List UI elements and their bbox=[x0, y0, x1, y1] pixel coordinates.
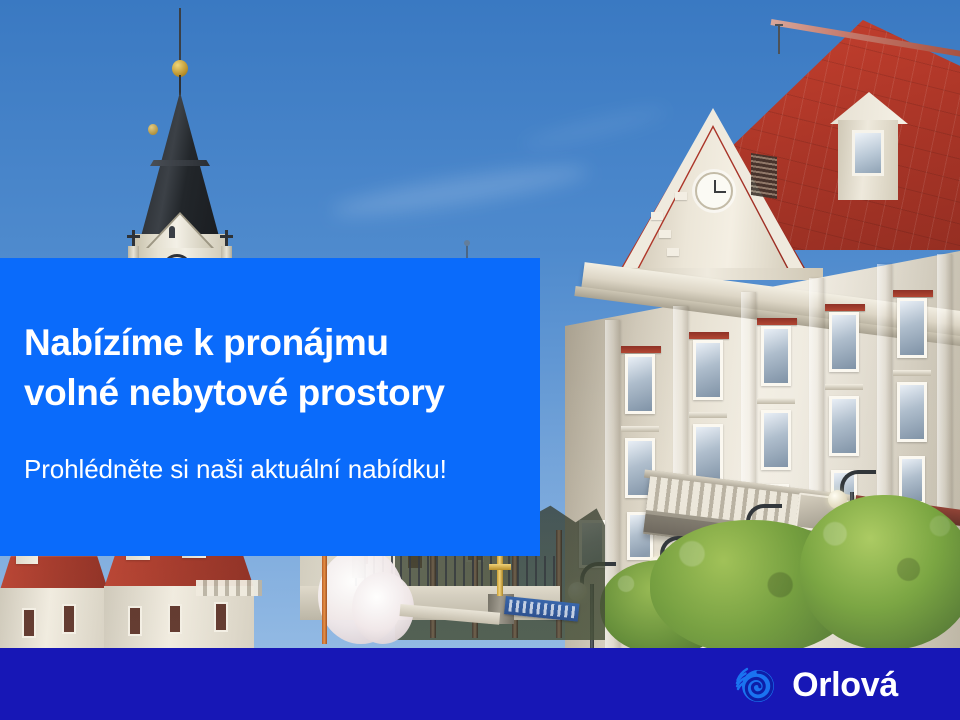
golden-cross-arm bbox=[489, 564, 511, 570]
house-wall bbox=[0, 588, 108, 648]
spire-side-knob bbox=[148, 124, 158, 135]
utility-pole bbox=[322, 548, 327, 644]
window-sill bbox=[689, 412, 727, 418]
tree-trunk bbox=[556, 530, 562, 638]
window-head bbox=[621, 346, 661, 353]
dentil-block bbox=[667, 248, 679, 256]
promo-banner: Nabízíme k pronájmu volné nebytové prost… bbox=[0, 0, 960, 720]
window-head bbox=[757, 318, 797, 325]
house-window bbox=[128, 606, 142, 636]
cross-icon bbox=[220, 230, 233, 246]
golden-cross-icon bbox=[497, 554, 503, 596]
facade-window bbox=[897, 382, 927, 442]
window-head bbox=[689, 332, 729, 339]
orlova-eagle-circle-icon bbox=[734, 663, 778, 707]
facade-window bbox=[761, 410, 791, 470]
cloud-wisp bbox=[330, 158, 591, 224]
dormer-window bbox=[852, 130, 884, 176]
window-sill bbox=[621, 426, 659, 432]
lamp-arm bbox=[840, 470, 876, 496]
facade-window bbox=[693, 340, 723, 400]
tower-window bbox=[169, 226, 175, 238]
window-head bbox=[825, 304, 865, 311]
window-sill bbox=[757, 398, 795, 404]
facade-window bbox=[829, 396, 859, 456]
dentil-block bbox=[675, 192, 687, 200]
spire-band bbox=[150, 160, 210, 166]
roof-antenna bbox=[778, 24, 780, 54]
window-sill bbox=[825, 384, 863, 390]
orlova-logo-text: Orlová bbox=[792, 663, 898, 707]
foliage-texture bbox=[800, 495, 960, 648]
cross-icon bbox=[127, 230, 140, 246]
window-head bbox=[893, 290, 933, 297]
dentil-block bbox=[651, 212, 663, 220]
building-clock-face bbox=[695, 172, 733, 210]
roof-vent-louvre bbox=[751, 153, 777, 199]
footer-bar: Orlová bbox=[0, 648, 960, 720]
headline-line-1: Nabízíme k pronájmu bbox=[24, 318, 524, 368]
spire-rod bbox=[179, 8, 181, 66]
dentil-block bbox=[659, 230, 671, 238]
tree-foliage bbox=[800, 495, 960, 648]
house-window bbox=[168, 604, 182, 634]
house-window bbox=[62, 604, 76, 634]
house-window bbox=[214, 602, 228, 632]
facade-window bbox=[897, 298, 927, 358]
roof-dormer bbox=[830, 92, 908, 202]
shop-sign-lettering bbox=[508, 599, 575, 618]
facade-window bbox=[625, 354, 655, 414]
orlova-logo[interactable]: Orlová bbox=[734, 662, 898, 708]
house-window bbox=[22, 608, 36, 638]
house-balcony-railing bbox=[196, 580, 262, 596]
window-sill bbox=[893, 370, 931, 376]
subheadline: Prohlédněte si naši aktuální nabídku! bbox=[24, 452, 524, 486]
facade-window bbox=[829, 312, 859, 372]
facade-window bbox=[761, 326, 791, 386]
headline-line-2: volné nebytové prostory bbox=[24, 368, 524, 418]
headline: Nabízíme k pronájmu volné nebytové prost… bbox=[24, 318, 524, 418]
